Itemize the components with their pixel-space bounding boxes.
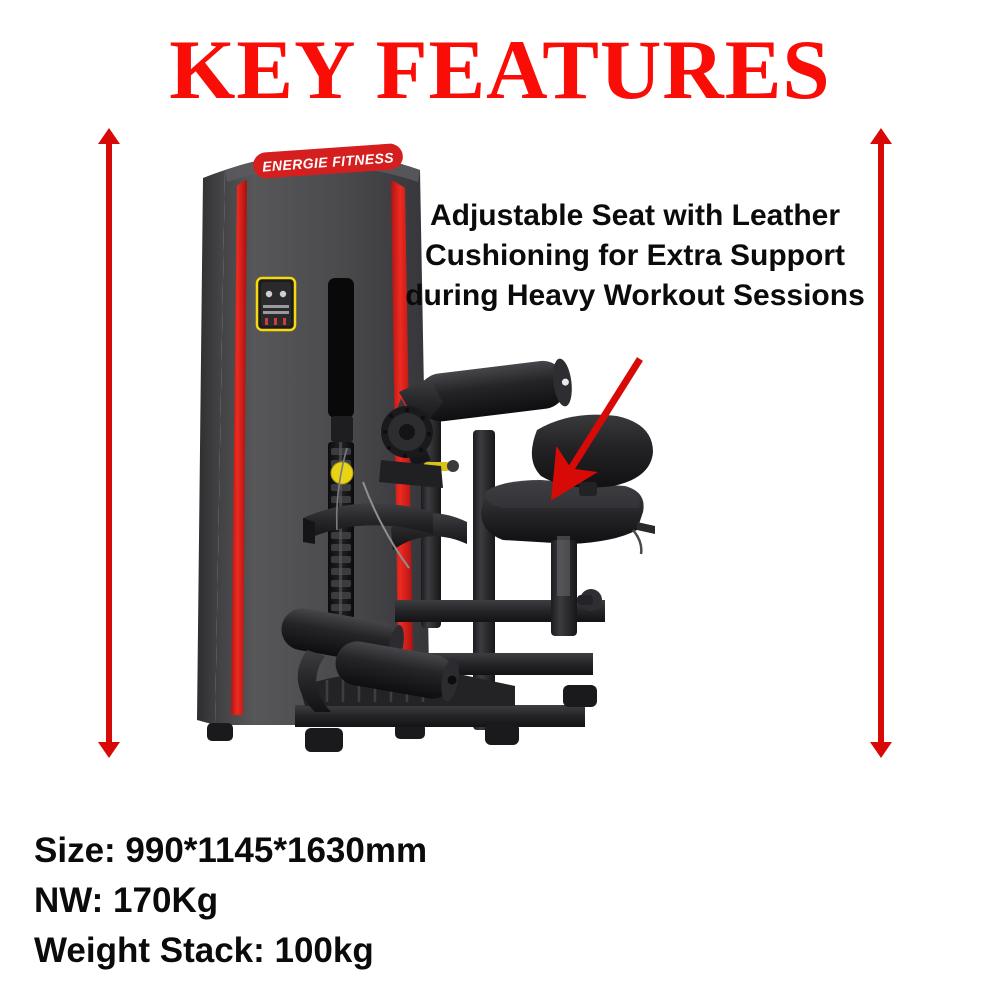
arrow-shaft — [878, 141, 884, 745]
right-feature-caption: Dual to Multi Functionality Machine For … — [990, 142, 1000, 762]
instruction-placard — [257, 278, 295, 330]
specifications-block: Size: 990*1145*1630mm NW: 170Kg Weight S… — [34, 826, 427, 976]
page-title: KEY FEATURES — [0, 24, 1000, 116]
arrow-head-down-icon — [870, 742, 892, 758]
key-features-poster: KEY FEATURES 3 Layer Powder Coating for … — [0, 0, 1000, 1000]
seat-feature-caption: Adjustable Seat with Leather Cushioning … — [400, 196, 870, 316]
backrest-pad — [532, 415, 653, 488]
left-feature-arrow — [96, 128, 122, 758]
frame-foot — [305, 728, 343, 752]
arrow-head-down-icon — [98, 742, 120, 758]
spec-weight-stack: Weight Stack: 100kg — [34, 926, 427, 976]
spec-net-weight: NW: 170Kg — [34, 876, 427, 926]
frame-foot — [563, 685, 597, 707]
weight-stack-slot — [328, 278, 354, 418]
right-feature-arrow — [868, 128, 894, 758]
arrow-shaft — [106, 141, 112, 745]
spec-size: Size: 990*1145*1630mm — [34, 826, 427, 876]
frame-foot — [485, 723, 519, 745]
